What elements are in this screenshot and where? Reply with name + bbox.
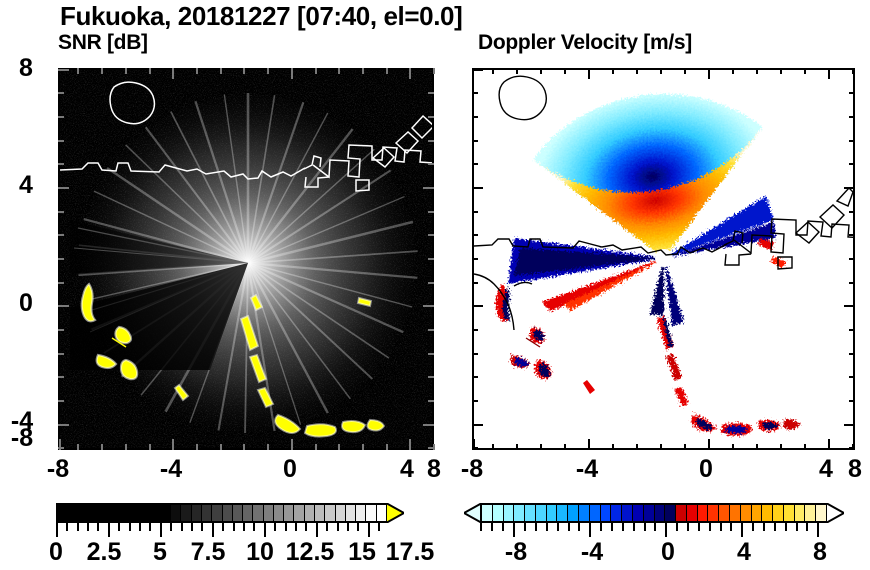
dop-ytick-major xyxy=(472,69,483,71)
snr-xtick-top-minor xyxy=(386,68,388,74)
snr-xtick-minor xyxy=(196,444,198,450)
dop-xtick-top-minor xyxy=(540,68,542,74)
snr-ytick-label-8: 8 xyxy=(4,54,48,83)
dop-ytick-minor xyxy=(472,211,478,213)
snr-cb-tick-minor xyxy=(77,523,79,531)
cb-cell xyxy=(547,505,558,521)
snr-ytick-minor xyxy=(58,116,64,118)
snr-xtick-minor xyxy=(101,444,103,450)
snr-cb-tick-minor xyxy=(357,523,359,531)
snr-xtick-minor xyxy=(149,444,151,450)
dop-xtick-minor xyxy=(660,444,662,450)
dop-cb-tick-minor xyxy=(709,523,711,531)
dop-ytick-right-minor xyxy=(849,92,855,94)
dop-ytick-right-major xyxy=(844,187,855,189)
dop-ytick-right-major xyxy=(844,424,855,426)
cb-cell xyxy=(325,505,335,521)
snr-ytick-right-minor xyxy=(428,116,434,118)
snr-xtick-top-minor xyxy=(315,68,317,74)
cb-cell xyxy=(336,505,346,521)
snr-xtick-top-minor xyxy=(149,68,151,74)
dop-cb-label-m4: -4 xyxy=(565,538,619,567)
dop-cb-label-0: 0 xyxy=(641,538,695,567)
dop-ytick-minor xyxy=(472,92,478,94)
snr-ytick-right-minor xyxy=(428,282,434,284)
cb-cell xyxy=(181,505,191,521)
dop-xtick-major xyxy=(708,439,710,450)
snr-ytick-minor xyxy=(58,92,64,94)
dop-xtick-top-minor xyxy=(756,68,758,74)
dop-ytick-minor xyxy=(472,258,478,260)
cb-cell xyxy=(536,505,547,521)
cb-cell xyxy=(99,505,109,521)
dop-cb-tick-minor xyxy=(502,523,504,531)
snr-cb-tick-minor xyxy=(149,523,151,531)
snr-xtick-major xyxy=(291,439,293,450)
cb-cell xyxy=(633,505,644,521)
dop-ytick-right-minor xyxy=(849,116,855,118)
cb-cell xyxy=(611,505,622,521)
snr-cb-tick-minor xyxy=(337,523,339,531)
cb-cell xyxy=(377,505,386,521)
snr-cb-tick-minor xyxy=(191,523,193,531)
snr-ytick-right-major xyxy=(423,305,434,307)
dop-ytick-minor xyxy=(472,234,478,236)
snr-ytick-right-minor xyxy=(428,140,434,142)
snr-colorbar-arrow-high xyxy=(386,503,404,523)
cb-cell xyxy=(741,505,752,521)
cb-cell xyxy=(482,505,493,521)
dop-cb-label-8: 8 xyxy=(793,538,847,567)
cb-cell xyxy=(795,505,806,521)
dop-xtick-top-minor xyxy=(612,68,614,74)
snr-ytick-right-major xyxy=(423,187,434,189)
cb-cell xyxy=(294,505,304,521)
snr-ytick-minor xyxy=(58,400,64,402)
cb-cell xyxy=(752,505,763,521)
dop-ytick-minor xyxy=(472,447,478,449)
snr-cb-tick-major xyxy=(160,523,162,537)
snr-xtick-minor xyxy=(220,444,222,450)
dop-xtick-top-major xyxy=(588,68,590,79)
snr-cb-tick-minor xyxy=(347,523,349,531)
snr-cb-label-7p5: 7.5 xyxy=(176,538,240,567)
dop-xtick-minor xyxy=(564,444,566,450)
dop-ytick-minor xyxy=(472,116,478,118)
snr-cb-tick-minor xyxy=(295,523,297,531)
snr-cb-tick-major xyxy=(368,523,370,537)
dop-ytick-major xyxy=(472,187,483,189)
snr-xtick-major xyxy=(172,439,174,450)
dop-xtick-minor xyxy=(540,444,542,450)
cb-cell xyxy=(655,505,666,521)
snr-ytick-major xyxy=(58,424,69,426)
snr-xtick-minor xyxy=(267,444,269,450)
dop-xtick-label-m8: -8 xyxy=(445,455,499,484)
cb-cell xyxy=(140,505,150,521)
dop-cb-tick-minor xyxy=(524,523,526,531)
dop-cb-tick-minor xyxy=(611,523,613,531)
dop-xtick-minor xyxy=(684,444,686,450)
snr-xtick-top-minor xyxy=(220,68,222,74)
cb-cell xyxy=(151,505,161,521)
snr-ytick-minor xyxy=(58,258,64,260)
dop-ytick-right-minor xyxy=(849,140,855,142)
snr-cb-tick-major xyxy=(56,523,58,537)
snr-cb-label-2p5: 2.5 xyxy=(72,538,136,567)
dop-ytick-right-minor xyxy=(849,282,855,284)
snr-xtick-top-major xyxy=(172,68,174,79)
cb-cell xyxy=(601,505,612,521)
snr-ytick-major xyxy=(58,187,69,189)
dop-cb-tick-minor xyxy=(676,523,678,531)
snr-ytick-label-4: 4 xyxy=(4,171,48,200)
cb-cell xyxy=(557,505,568,521)
dop-ytick-right-minor xyxy=(849,353,855,355)
cb-cell xyxy=(233,505,243,521)
dop-ytick-right-minor xyxy=(849,163,855,165)
cb-cell xyxy=(274,505,284,521)
cb-cell xyxy=(644,505,655,521)
cb-cell xyxy=(805,505,816,521)
dop-xtick-top-minor xyxy=(804,68,806,74)
cb-cell xyxy=(730,505,741,521)
snr-xtick-minor xyxy=(386,444,388,450)
cb-cell xyxy=(762,505,773,521)
snr-cb-tick-minor xyxy=(243,523,245,531)
dop-xtick-top-minor xyxy=(564,68,566,74)
dop-cb-tick-minor xyxy=(730,523,732,531)
snr-ytick-minor xyxy=(58,234,64,236)
dop-ytick-major xyxy=(472,305,483,307)
cb-cell xyxy=(171,505,181,521)
cb-cell xyxy=(161,505,171,521)
snr-ytick-major xyxy=(58,69,69,71)
snr-panel-title: SNR [dB] xyxy=(58,31,148,55)
cb-cell xyxy=(120,505,130,521)
dop-cb-tick-minor xyxy=(774,523,776,531)
snr-cb-tick-minor xyxy=(305,523,307,531)
snr-xtick-top-minor xyxy=(125,68,127,74)
cb-cell xyxy=(315,505,325,521)
dop-ytick-minor xyxy=(472,282,478,284)
dop-cb-tick-minor xyxy=(535,523,537,531)
snr-cb-tick-minor xyxy=(129,523,131,531)
dop-xtick-minor xyxy=(804,444,806,450)
dop-ytick-right-major xyxy=(844,305,855,307)
snr-ytick-minor xyxy=(58,447,64,449)
doppler-panel[interactable] xyxy=(472,68,855,450)
snr-xtick-label-m4: -4 xyxy=(144,455,198,484)
cb-cell xyxy=(243,505,253,521)
dop-xtick-top-minor xyxy=(852,68,854,74)
cb-cell xyxy=(676,505,687,521)
dop-xtick-label-8: 8 xyxy=(828,455,870,484)
dop-cb-tick-minor xyxy=(546,523,548,531)
cb-cell xyxy=(79,505,89,521)
cb-cell xyxy=(816,505,826,521)
cb-cell xyxy=(130,505,140,521)
snr-ytick-right-minor xyxy=(428,92,434,94)
snr-xtick-top-minor xyxy=(77,68,79,74)
cb-cell xyxy=(590,505,601,521)
snr-cb-tick-minor xyxy=(274,523,276,531)
cb-cell xyxy=(708,505,719,521)
cb-cell xyxy=(202,505,212,521)
dop-xtick-minor xyxy=(732,444,734,450)
cb-cell xyxy=(525,505,536,521)
snr-ytick-label-0: 0 xyxy=(4,289,48,318)
snr-xtick-top-minor xyxy=(267,68,269,74)
snr-xtick-label-m8: -8 xyxy=(31,455,85,484)
cb-cell xyxy=(212,505,222,521)
cb-cell xyxy=(665,505,676,521)
snr-cb-label-5: 5 xyxy=(140,538,180,567)
snr-ytick-right-minor xyxy=(428,163,434,165)
cb-cell xyxy=(698,505,709,521)
snr-cb-tick-minor xyxy=(285,523,287,531)
dop-cb-label-m8: -8 xyxy=(489,538,543,567)
dop-xtick-top-major xyxy=(708,68,710,79)
dop-cb-tick-minor xyxy=(633,523,635,531)
dop-xtick-top-major xyxy=(828,68,830,79)
doppler-plot-area xyxy=(474,70,853,448)
snr-xtick-top-minor xyxy=(101,68,103,74)
cb-cell xyxy=(366,505,376,521)
snr-xtick-major xyxy=(409,439,411,450)
cb-cell xyxy=(284,505,294,521)
dop-ytick-minor xyxy=(472,329,478,331)
cb-cell xyxy=(493,505,504,521)
snr-ytick-right-minor xyxy=(428,234,434,236)
cb-cell xyxy=(223,505,233,521)
snr-xtick-top-minor xyxy=(196,68,198,74)
cb-cell xyxy=(305,505,315,521)
dop-ytick-right-minor xyxy=(849,447,855,449)
cb-cell xyxy=(687,505,698,521)
snr-cb-tick-major xyxy=(212,523,214,537)
snr-xtick-label-0: 0 xyxy=(263,455,317,484)
snr-ytick-right-minor xyxy=(428,400,434,402)
snr-cb-tick-minor xyxy=(170,523,172,531)
snr-xtick-minor xyxy=(315,444,317,450)
dop-xtick-top-minor xyxy=(516,68,518,74)
cb-cell xyxy=(68,505,78,521)
dop-cb-tick-major xyxy=(665,523,667,537)
cb-cell xyxy=(192,505,202,521)
snr-ytick-minor xyxy=(58,211,64,213)
dop-ytick-right-minor xyxy=(849,211,855,213)
snr-panel[interactable] xyxy=(58,68,434,450)
dop-ytick-major xyxy=(472,424,483,426)
dop-xtick-top-minor xyxy=(780,68,782,74)
snr-radar-image xyxy=(60,70,432,448)
snr-cb-tick-minor xyxy=(87,523,89,531)
dop-cb-tick-minor xyxy=(806,523,808,531)
doppler-radar-image xyxy=(474,70,853,448)
figure-title: Fukuoka, 20181227 [07:40, el=0.0] xyxy=(60,1,462,32)
dop-cb-tick-minor xyxy=(557,523,559,531)
dop-ytick-minor xyxy=(472,140,478,142)
snr-ytick-label-m8: -8 xyxy=(0,424,48,453)
cb-cell xyxy=(773,505,784,521)
snr-ytick-minor xyxy=(58,376,64,378)
cb-cell xyxy=(579,505,590,521)
snr-cb-tick-minor xyxy=(139,523,141,531)
snr-cb-tick-major xyxy=(316,523,318,537)
doppler-panel-title: Doppler Velocity [m/s] xyxy=(478,31,692,55)
snr-xtick-minor xyxy=(243,444,245,450)
snr-ytick-minor xyxy=(58,353,64,355)
snr-ytick-right-minor xyxy=(428,329,434,331)
snr-ytick-right-minor xyxy=(428,447,434,449)
cb-cell xyxy=(784,505,795,521)
dop-ytick-right-minor xyxy=(849,400,855,402)
snr-xtick-minor xyxy=(338,444,340,450)
cb-cell xyxy=(109,505,119,521)
snr-cb-label-0: 0 xyxy=(36,538,76,567)
cb-cell xyxy=(504,505,515,521)
dop-ytick-right-minor xyxy=(849,329,855,331)
snr-xtick-top-minor xyxy=(338,68,340,74)
snr-cb-tick-minor xyxy=(233,523,235,531)
snr-colorbar-body[interactable] xyxy=(56,503,388,523)
snr-ytick-right-minor xyxy=(428,211,434,213)
cb-cell xyxy=(514,505,525,521)
dop-xtick-label-m4: -4 xyxy=(560,455,614,484)
dop-xtick-top-minor xyxy=(492,68,494,74)
dop-xtick-top-minor xyxy=(684,68,686,74)
dop-xtick-minor xyxy=(636,444,638,450)
dop-cb-tick-minor xyxy=(698,523,700,531)
dop-xtick-minor xyxy=(780,444,782,450)
dop-ytick-minor xyxy=(472,376,478,378)
dop-cb-tick-minor xyxy=(752,523,754,531)
dop-cb-tick-minor xyxy=(600,523,602,531)
snr-xtick-top-major xyxy=(291,68,293,79)
snr-cb-tick-major xyxy=(264,523,266,537)
dop-cb-tick-major xyxy=(817,523,819,537)
snr-ytick-right-major xyxy=(423,424,434,426)
cb-cell xyxy=(568,505,579,521)
snr-ytick-right-minor xyxy=(428,353,434,355)
snr-cb-tick-major xyxy=(108,523,110,537)
snr-cb-tick-minor xyxy=(253,523,255,531)
dop-xtick-minor xyxy=(492,444,494,450)
snr-cb-label-17p5: 17.5 xyxy=(372,538,448,567)
cb-cell xyxy=(346,505,356,521)
dop-ytick-minor xyxy=(472,400,478,402)
snr-xtick-minor xyxy=(77,444,79,450)
snr-ytick-major xyxy=(58,305,69,307)
snr-plot-area xyxy=(60,70,432,448)
cb-cell xyxy=(264,505,274,521)
dop-ytick-minor xyxy=(472,353,478,355)
snr-ytick-right-minor xyxy=(428,376,434,378)
snr-cb-tick-minor xyxy=(222,523,224,531)
snr-cb-tick-minor xyxy=(97,523,99,531)
cb-cell xyxy=(719,505,730,521)
dop-xtick-major xyxy=(828,439,830,450)
snr-xtick-top-major xyxy=(409,68,411,79)
snr-xtick-top-minor xyxy=(433,68,435,74)
dop-cb-tick-minor xyxy=(687,523,689,531)
dop-xtick-top-minor xyxy=(732,68,734,74)
snr-cb-tick-minor xyxy=(66,523,68,531)
snr-xtick-top-minor xyxy=(243,68,245,74)
snr-xtick-top-minor xyxy=(362,68,364,74)
cb-cell xyxy=(253,505,263,521)
snr-ytick-minor xyxy=(58,282,64,284)
cb-cell xyxy=(58,505,68,521)
dop-xtick-label-0: 0 xyxy=(679,455,733,484)
snr-xtick-minor xyxy=(125,444,127,450)
dop-ytick-minor xyxy=(472,163,478,165)
snr-xtick-minor xyxy=(362,444,364,450)
snr-ytick-right-minor xyxy=(428,258,434,260)
dop-xtick-minor xyxy=(516,444,518,450)
dop-xtick-top-minor xyxy=(636,68,638,74)
dop-ytick-right-minor xyxy=(849,258,855,260)
dop-cb-tick-minor xyxy=(654,523,656,531)
dop-cb-tick-major xyxy=(513,523,515,537)
dop-cb-tick-minor xyxy=(622,523,624,531)
dop-cb-tick-minor xyxy=(796,523,798,531)
dop-cb-tick-minor xyxy=(480,523,482,531)
snr-cb-tick-minor xyxy=(326,523,328,531)
snr-cb-tick-minor xyxy=(118,523,120,531)
dop-xtick-minor xyxy=(756,444,758,450)
dop-xtick-minor xyxy=(612,444,614,450)
doppler-colorbar-arrow-high xyxy=(826,503,844,523)
cb-cell xyxy=(622,505,633,521)
dop-ytick-right-minor xyxy=(849,234,855,236)
dop-xtick-top-minor xyxy=(660,68,662,74)
dop-cb-tick-minor xyxy=(491,523,493,531)
snr-colorbar[interactable] xyxy=(56,503,402,523)
dop-cb-tick-minor xyxy=(785,523,787,531)
snr-ytick-minor xyxy=(58,329,64,331)
radar-figure: Fukuoka, 20181227 [07:40, el=0.0] SNR [d… xyxy=(0,0,870,570)
dop-cb-tick-major xyxy=(589,523,591,537)
dop-cb-tick-minor xyxy=(568,523,570,531)
cb-cell xyxy=(89,505,99,521)
dop-ytick-right-minor xyxy=(849,376,855,378)
doppler-colorbar-body[interactable] xyxy=(480,503,828,523)
dop-cb-label-4: 4 xyxy=(717,538,771,567)
dop-cb-tick-minor xyxy=(720,523,722,531)
cb-cell xyxy=(356,505,366,521)
dop-cb-tick-minor xyxy=(644,523,646,531)
snr-cb-tick-minor xyxy=(378,523,380,531)
snr-cb-tick-minor xyxy=(201,523,203,531)
dop-cb-tick-major xyxy=(741,523,743,537)
dop-cb-tick-minor xyxy=(763,523,765,531)
dop-cb-tick-minor xyxy=(578,523,580,531)
doppler-colorbar[interactable] xyxy=(464,503,854,523)
snr-ytick-minor xyxy=(58,163,64,165)
snr-ytick-minor xyxy=(58,140,64,142)
dop-xtick-major xyxy=(588,439,590,450)
snr-cb-tick-minor xyxy=(181,523,183,531)
